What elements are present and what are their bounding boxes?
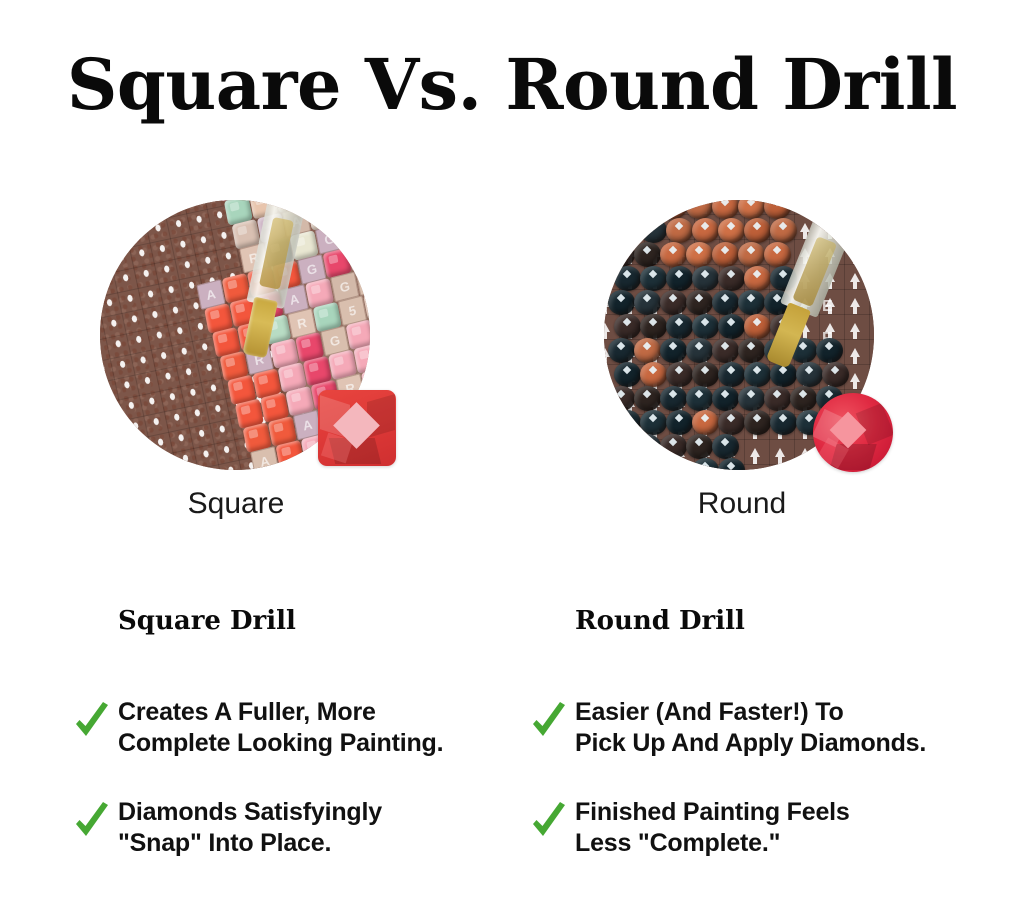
square-drill-heading: Square Drill bbox=[118, 606, 598, 636]
canvas-arrow-icon bbox=[604, 223, 610, 232]
round-drill-column: Round Drill Easier (And Faster!) To Pick… bbox=[575, 606, 1024, 894]
check-icon bbox=[531, 702, 567, 742]
check-icon bbox=[74, 802, 110, 842]
round-drill-heading: Round Drill bbox=[575, 606, 1024, 636]
list-item: Easier (And Faster!) To Pick Up And Appl… bbox=[575, 694, 1024, 762]
canvas-arrow-icon bbox=[604, 373, 610, 382]
canvas-arrow-icon bbox=[775, 448, 785, 457]
round-photo-cell: EF bbox=[600, 198, 900, 473]
square-drill-column: Square Drill Creates A Fuller, More Comp… bbox=[118, 606, 598, 894]
canvas-arrow-icon bbox=[850, 323, 860, 332]
canvas-arrow-icon bbox=[850, 248, 860, 257]
canvas-arrow-icon bbox=[850, 348, 860, 357]
list-item: Diamonds Satisfyingly "Snap" Into Place. bbox=[118, 794, 598, 862]
list-item-label: Finished Painting Feels Less "Complete." bbox=[575, 797, 850, 859]
square-photo-caption: Square bbox=[86, 486, 386, 522]
comparison-columns: Square Drill Creates A Fuller, More Comp… bbox=[0, 606, 1024, 906]
canvas-arrow-icon bbox=[800, 200, 810, 207]
list-item: Finished Painting Feels Less "Complete." bbox=[575, 794, 1024, 862]
canvas-arrow-icon bbox=[850, 298, 860, 307]
square-gem bbox=[318, 390, 396, 466]
canvas-arrow-icon bbox=[604, 273, 610, 282]
round-photo-caption: Round bbox=[592, 486, 892, 522]
canvas-arrow-icon bbox=[800, 448, 810, 457]
check-icon bbox=[74, 702, 110, 742]
list-item: Creates A Fuller, More Complete Looking … bbox=[118, 694, 598, 762]
square-photo-cell: GAR5ARG5AGRAGAR5ARG5AGRAGAR bbox=[96, 198, 396, 473]
round-gem bbox=[813, 393, 893, 472]
canvas-arrow-icon bbox=[850, 373, 860, 382]
check-icon bbox=[531, 802, 567, 842]
round-drill-bullets: Easier (And Faster!) To Pick Up And Appl… bbox=[575, 694, 1024, 862]
canvas-arrow-icon bbox=[604, 423, 610, 432]
square-drill-bullets: Creates A Fuller, More Complete Looking … bbox=[118, 694, 598, 862]
photo-comparison-row: GAR5ARG5AGRAGAR5ARG5AGRAGAR EF bbox=[0, 198, 1024, 478]
list-item-label: Diamonds Satisfyingly "Snap" Into Place. bbox=[118, 797, 382, 859]
canvas-arrow-icon bbox=[750, 448, 760, 457]
page-title: Square Vs. Round Drill bbox=[0, 45, 1024, 125]
list-item-label: Easier (And Faster!) To Pick Up And Appl… bbox=[575, 697, 926, 759]
list-item-label: Creates A Fuller, More Complete Looking … bbox=[118, 697, 443, 759]
canvas-arrow-icon bbox=[850, 273, 860, 282]
canvas-arrow-icon bbox=[604, 323, 610, 332]
